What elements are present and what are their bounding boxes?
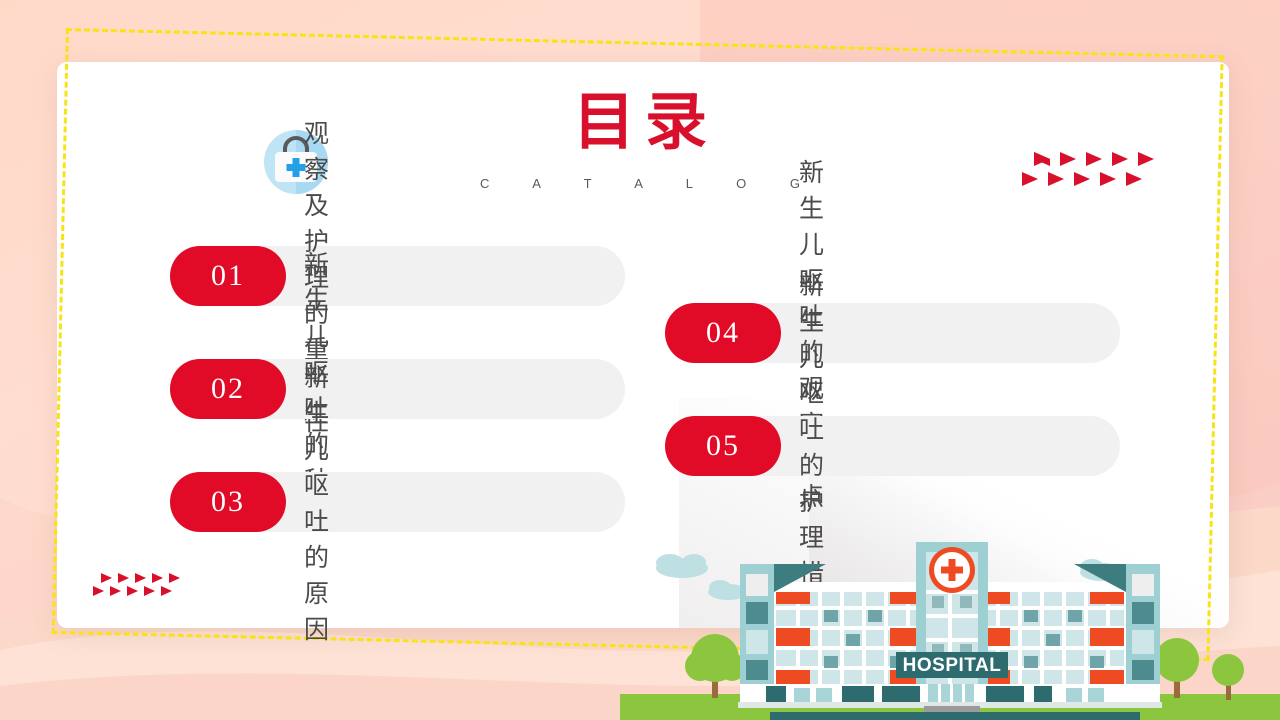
hospital-sign-text: HOSPITAL [903,655,1002,676]
catalog-item-number: 01 [170,246,286,306]
catalog-item-number: 03 [170,472,286,532]
catalog-item-label: 新生儿呕吐的原因 [304,472,330,532]
catalog-item-label: 新生儿呕吐的护理措施 [799,416,825,476]
slide-canvas: 目录 C A T A L O G [0,0,1280,720]
tree-icon [685,634,746,698]
triangle-cluster-icon [1020,150,1160,196]
catalog-item-number: 05 [665,416,781,476]
catalog-item-number: 02 [170,359,286,419]
tree-icon [1155,638,1244,700]
catalog-item-number: 04 [665,303,781,363]
page-title: 目录 [0,92,1280,154]
hospital-building-illustration: HOSPITAL [620,530,1280,720]
triangle-cluster-icon [92,572,184,602]
